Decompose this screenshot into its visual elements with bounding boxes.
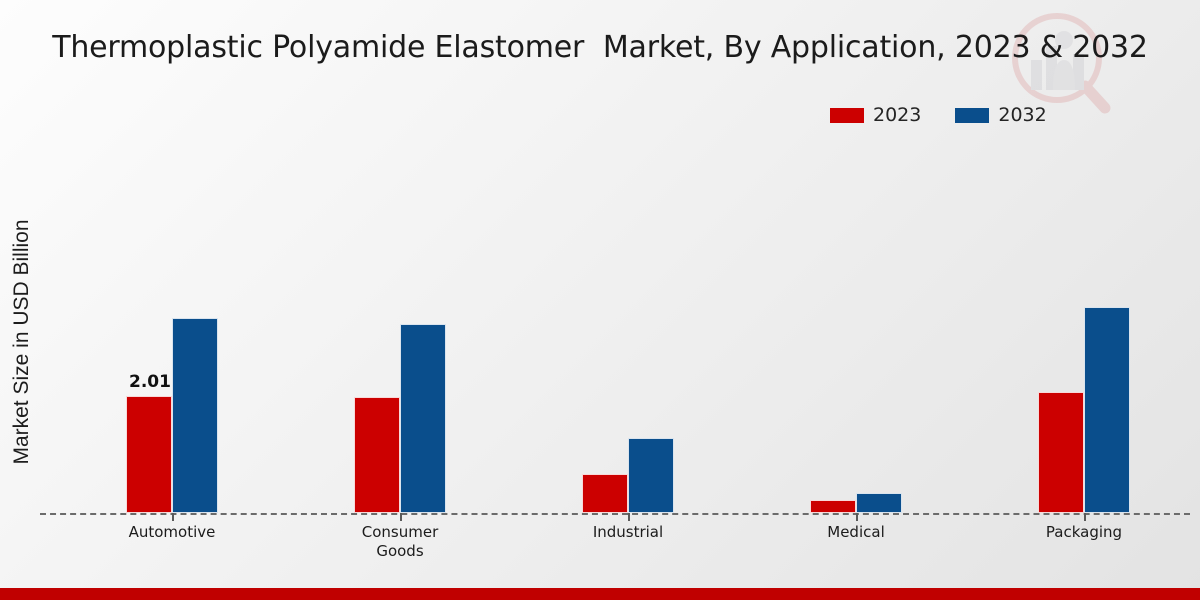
x-axis-tick — [628, 513, 630, 521]
legend-swatch-2032 — [955, 108, 989, 123]
chart-canvas: Thermoplastic Polyamide Elastomer Market… — [0, 0, 1200, 600]
x-axis-category-label: Industrial — [538, 523, 718, 542]
x-axis-tick — [400, 513, 402, 521]
legend-swatch-2023 — [830, 108, 864, 123]
bar-2032-consumer-goods[interactable] — [400, 324, 446, 513]
legend-item-2023[interactable]: 2023 — [830, 104, 921, 126]
x-axis-category-label: Medical — [766, 523, 946, 542]
legend-label-2032: 2032 — [998, 104, 1046, 126]
x-axis-category-label: Consumer Goods — [310, 523, 490, 561]
x-axis-tick — [1084, 513, 1086, 521]
bar-2023-medical[interactable] — [810, 500, 856, 513]
x-axis-tick — [856, 513, 858, 521]
bar-2023-packaging[interactable] — [1038, 392, 1084, 513]
page-title: Thermoplastic Polyamide Elastomer Market… — [0, 30, 1200, 65]
x-axis-baseline — [40, 513, 1190, 515]
bar-2032-packaging[interactable] — [1084, 307, 1130, 513]
bottom-accent-strip — [0, 588, 1200, 600]
legend-label-2023: 2023 — [873, 104, 921, 126]
bar-2032-automotive[interactable] — [172, 318, 218, 513]
legend-item-2032[interactable]: 2032 — [955, 104, 1046, 126]
x-axis-category-label: Packaging — [994, 523, 1174, 542]
bar-2023-industrial[interactable] — [582, 474, 628, 513]
x-axis-category-label: Automotive — [82, 523, 262, 542]
bar-2023-consumer-goods[interactable] — [354, 397, 400, 513]
bar-2032-industrial[interactable] — [628, 438, 674, 513]
x-axis-tick — [172, 513, 174, 521]
bar-2023-automotive[interactable]: 2.01 — [126, 396, 172, 513]
y-axis-label: Market Size in USD Billion — [10, 162, 34, 522]
bar-value-label: 2.01 — [121, 372, 179, 392]
bar-2032-medical[interactable] — [856, 493, 902, 513]
plot-area: 2.01 — [48, 140, 1188, 513]
chart-legend: 2023 2032 — [830, 104, 1047, 126]
